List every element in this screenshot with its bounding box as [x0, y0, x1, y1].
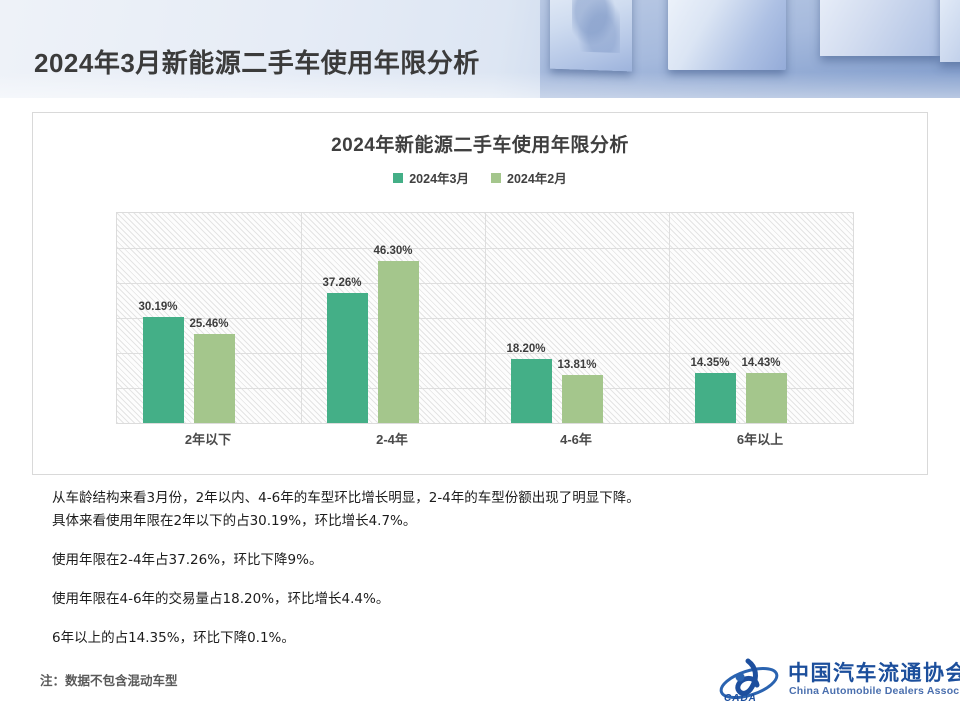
- commentary-paragraph: 具体来看使用年限在2年以下的占30.19%，环比增长4.7%。: [52, 511, 912, 532]
- chart-title: 2024年新能源二手车使用年限分析: [33, 130, 927, 157]
- legend-item-series-1[interactable]: 2024年3月: [393, 168, 469, 187]
- chart-legend: 2024年3月 2024年2月: [33, 168, 927, 187]
- chart-card: 2024年新能源二手车使用年限分析 2024年3月 2024年2月 30.19%…: [32, 112, 928, 475]
- commentary-paragraph: 使用年限在4-6年的交易量占18.20%，环比增长4.4%。: [52, 589, 912, 610]
- chart-bar[interactable]: [746, 373, 787, 424]
- bar-value-label: 13.81%: [534, 359, 620, 371]
- bar-value-label: 30.19%: [115, 301, 201, 313]
- chart-bar[interactable]: [695, 373, 736, 423]
- bar-value-label: 18.20%: [483, 343, 569, 355]
- organization-logo: CADA 中国汽车流通协会 China Automobile Dealers A…: [718, 655, 944, 709]
- legend-item-series-2[interactable]: 2024年2月: [491, 168, 567, 187]
- chart-bar[interactable]: [562, 375, 603, 423]
- bar-value-label: 37.26%: [299, 277, 385, 289]
- decorative-cube-icon: [940, 0, 960, 62]
- cada-wordmark: CADA: [724, 693, 757, 704]
- footnote: 注：数据不包含混动车型: [40, 670, 178, 689]
- chart-bar[interactable]: [194, 334, 235, 423]
- bar-group: 30.19%25.46%: [117, 213, 301, 423]
- world-map-icon: [572, 0, 620, 53]
- commentary-paragraph: 6年以上的占14.35%，环比下降0.1%。: [52, 628, 912, 649]
- legend-label: 2024年2月: [507, 168, 567, 187]
- chart-plot-area: 30.19%25.46%37.26%46.30%18.20%13.81%14.3…: [116, 212, 854, 424]
- chart-bar[interactable]: [143, 317, 184, 423]
- header-banner: 2024年3月新能源二手车使用年限分析: [0, 0, 960, 98]
- page-title: 2024年3月新能源二手车使用年限分析: [34, 43, 480, 80]
- x-axis-tick-label: 4-6年: [506, 429, 646, 448]
- logo-name-en: China Automobile Dealers Association: [789, 685, 960, 697]
- bar-value-label: 25.46%: [166, 318, 252, 330]
- bar-value-label: 14.43%: [718, 357, 804, 369]
- decorative-cube-icon: [550, 0, 632, 71]
- x-axis-tick-label: 2年以下: [138, 429, 278, 448]
- logo-name-cn: 中国汽车流通协会: [788, 657, 960, 687]
- decorative-cube-icon: [668, 0, 786, 70]
- commentary-paragraph: 从车龄结构来看3月份，2年以内、4-6年的车型环比增长明显，2-4年的车型份额出…: [52, 488, 912, 509]
- legend-label: 2024年3月: [409, 168, 469, 187]
- legend-swatch-icon: [393, 173, 403, 183]
- bar-group: 14.35%14.43%: [669, 213, 853, 423]
- chart-bar[interactable]: [378, 261, 419, 423]
- x-axis-tick-label: 2-4年: [322, 429, 462, 448]
- x-axis-tick-label: 6年以上: [690, 429, 830, 448]
- legend-swatch-icon: [491, 173, 501, 183]
- commentary-paragraph: 使用年限在2-4年占37.26%，环比下降9%。: [52, 550, 912, 571]
- bar-value-label: 46.30%: [350, 245, 436, 257]
- commentary-block: 从车龄结构来看3月份，2年以内、4-6年的车型环比增长明显，2-4年的车型份额出…: [52, 488, 912, 649]
- decorative-cube-icon: [820, 0, 940, 56]
- bar-group: 18.20%13.81%: [485, 213, 669, 423]
- chart-bar[interactable]: [327, 293, 368, 423]
- bar-group: 37.26%46.30%: [301, 213, 485, 423]
